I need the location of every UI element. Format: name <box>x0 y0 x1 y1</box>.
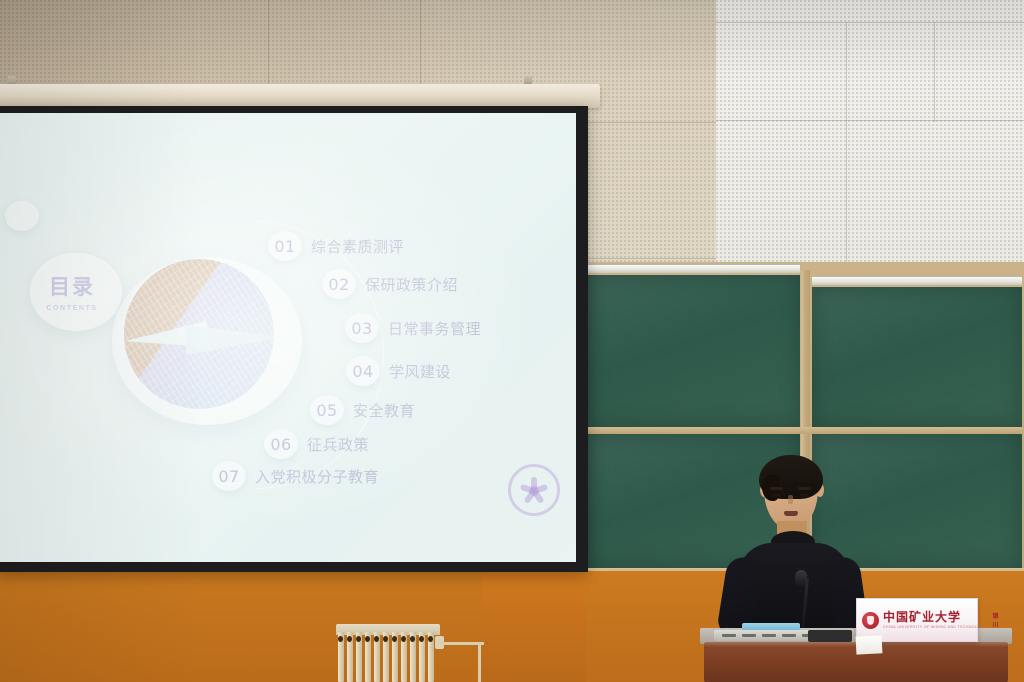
screen-roller-casing <box>0 84 600 108</box>
university-red-emblem-icon <box>862 612 879 629</box>
item-label: 保研政策介绍 <box>365 274 458 295</box>
item-number: 07 <box>218 467 239 486</box>
list-item[interactable]: 03 日常事务管理 <box>345 313 481 343</box>
projected-slide: 目录 CONTENTS <box>0 113 576 562</box>
item-number: 04 <box>352 362 373 381</box>
item-label: 学风建设 <box>389 361 451 382</box>
item-number: 05 <box>316 401 337 420</box>
perforation-texture <box>716 0 1024 262</box>
wall-seam <box>716 22 1024 23</box>
university-emblem-icon <box>508 464 560 516</box>
sign-title-en: CHINA UNIVERSITY OF MINING AND TECHNOLOG… <box>883 626 986 630</box>
hair <box>759 455 823 499</box>
contents-list: 01 综合素质测评 02 保研政策介绍 03 日常 <box>0 113 576 562</box>
blackboard-divider <box>588 427 1022 434</box>
radiator-pipe <box>478 642 481 682</box>
nose <box>788 495 793 504</box>
item-number: 03 <box>351 319 372 338</box>
podium-recess <box>808 630 852 642</box>
item-number-badge: 07 <box>212 461 246 491</box>
item-number-badge: 05 <box>310 395 344 425</box>
list-item[interactable]: 02 保研政策介绍 <box>322 269 458 299</box>
sign-text-block: 中国矿业大学 CHINA UNIVERSITY OF MINING AND TE… <box>883 611 986 629</box>
blackboard-light-strip <box>588 264 800 273</box>
item-label: 日常事务管理 <box>388 318 481 339</box>
wall-radiator <box>336 624 440 682</box>
item-number-badge: 04 <box>346 356 380 386</box>
emblem-mark <box>521 477 547 503</box>
item-number-badge: 02 <box>322 269 356 299</box>
item-label: 安全教育 <box>353 400 415 421</box>
eye <box>800 494 809 497</box>
mouth <box>784 511 798 516</box>
eye <box>772 494 781 497</box>
list-item[interactable]: 01 综合素质测评 <box>268 231 404 261</box>
item-label: 综合素质测评 <box>311 236 404 257</box>
list-item[interactable]: 05 安全教育 <box>310 395 415 425</box>
lecture-hall-scene: 目录 CONTENTS <box>0 0 1024 682</box>
sign-suffix: 银川 <box>992 611 998 629</box>
wall-seam <box>846 22 847 262</box>
blackboard-panel <box>812 287 1022 427</box>
blackboard-light-strip <box>812 276 1022 285</box>
list-item[interactable]: 07 入党积极分子教育 <box>212 461 379 491</box>
blackboard-panel <box>588 275 800 427</box>
paper-document <box>856 635 883 654</box>
slide-contents-page: 目录 CONTENTS <box>0 113 576 562</box>
item-label: 征兵政策 <box>307 434 369 455</box>
wall-seam <box>716 120 1024 121</box>
item-number-badge: 06 <box>264 429 298 459</box>
item-number: 06 <box>270 435 291 454</box>
list-item[interactable]: 06 征兵政策 <box>264 429 369 459</box>
item-label: 入党积极分子教育 <box>255 466 379 487</box>
right-wall-panel <box>716 0 1024 262</box>
item-number-badge: 01 <box>268 231 302 261</box>
sign-title-cn: 中国矿业大学 <box>883 611 986 624</box>
eyebrow <box>798 487 811 490</box>
item-number: 02 <box>328 275 349 294</box>
speaker-figure <box>718 443 868 643</box>
wall-seam <box>934 22 935 122</box>
list-item[interactable]: 04 学风建设 <box>346 356 451 386</box>
item-number: 01 <box>274 237 295 256</box>
item-number-badge: 03 <box>345 313 379 343</box>
pull-down-projection-screen: 目录 CONTENTS <box>0 106 588 572</box>
eyebrow <box>770 487 783 490</box>
